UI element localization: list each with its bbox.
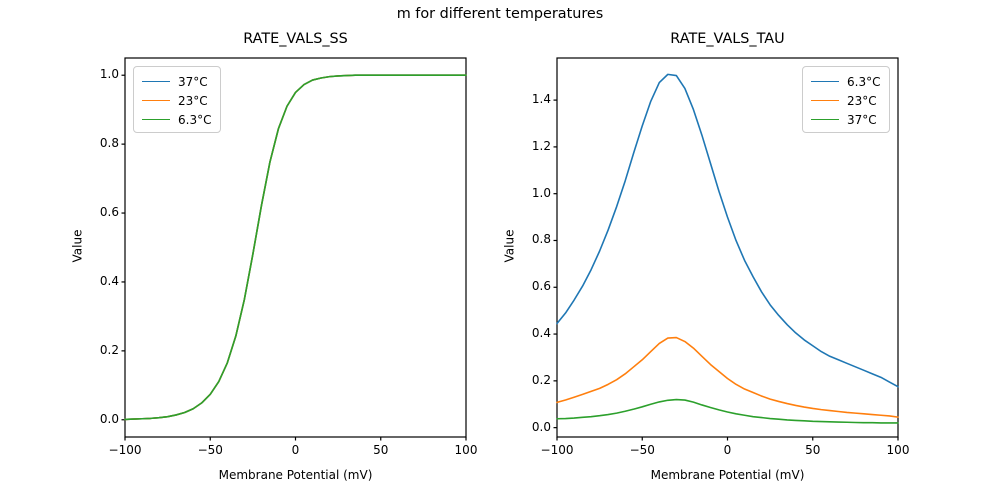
legend-line-swatch	[142, 119, 170, 120]
x-tick-label: 100	[858, 443, 938, 457]
legend-entry: 37°C	[140, 72, 214, 91]
axes-title-rate-vals-ss: RATE_VALS_SS	[125, 31, 466, 47]
legend-entry-label: 37°C	[847, 113, 877, 127]
x-tick-label: 0	[256, 443, 336, 457]
legend-rate-vals-tau: 6.3°C23°C37°C	[802, 66, 890, 133]
legend-entry: 23°C	[140, 91, 214, 110]
axes-title-rate-vals-tau: RATE_VALS_TAU	[557, 31, 898, 47]
y-axis-label: Value	[502, 56, 516, 435]
x-tick-label: 100	[426, 443, 506, 457]
legend-rate-vals-ss: 37°C23°C6.3°C	[133, 66, 221, 133]
legend-line-swatch	[811, 81, 839, 82]
series-line-2	[557, 338, 898, 418]
figure-suptitle: m for different temperatures	[0, 6, 1000, 22]
legend-line-swatch	[142, 81, 170, 82]
legend-entry-label: 6.3°C	[178, 113, 211, 127]
x-tick-label: 50	[773, 443, 853, 457]
legend-entry-label: 6.3°C	[847, 75, 880, 89]
legend-entry: 6.3°C	[140, 110, 214, 129]
legend-entry-label: 23°C	[847, 94, 877, 108]
legend-entry-label: 37°C	[178, 75, 208, 89]
legend-entry: 37°C	[809, 110, 883, 129]
legend-entry: 23°C	[809, 91, 883, 110]
x-tick-label: −100	[517, 443, 597, 457]
x-tick-label: 0	[688, 443, 768, 457]
legend-entry: 6.3°C	[809, 72, 883, 91]
x-tick-label: −50	[602, 443, 682, 457]
legend-entry-label: 23°C	[178, 94, 208, 108]
matplotlib-figure: m for different temperatures RATE_VALS_S…	[0, 0, 1000, 500]
legend-line-swatch	[142, 100, 170, 101]
series-line-3	[557, 400, 898, 423]
y-axis-label: Value	[70, 56, 84, 435]
x-axis-label: Membrane Potential (mV)	[557, 468, 898, 482]
x-tick-label: 50	[341, 443, 421, 457]
legend-line-swatch	[811, 119, 839, 120]
legend-line-swatch	[811, 100, 839, 101]
x-tick-label: −50	[170, 443, 250, 457]
x-axis-label: Membrane Potential (mV)	[125, 468, 466, 482]
x-tick-label: −100	[85, 443, 165, 457]
